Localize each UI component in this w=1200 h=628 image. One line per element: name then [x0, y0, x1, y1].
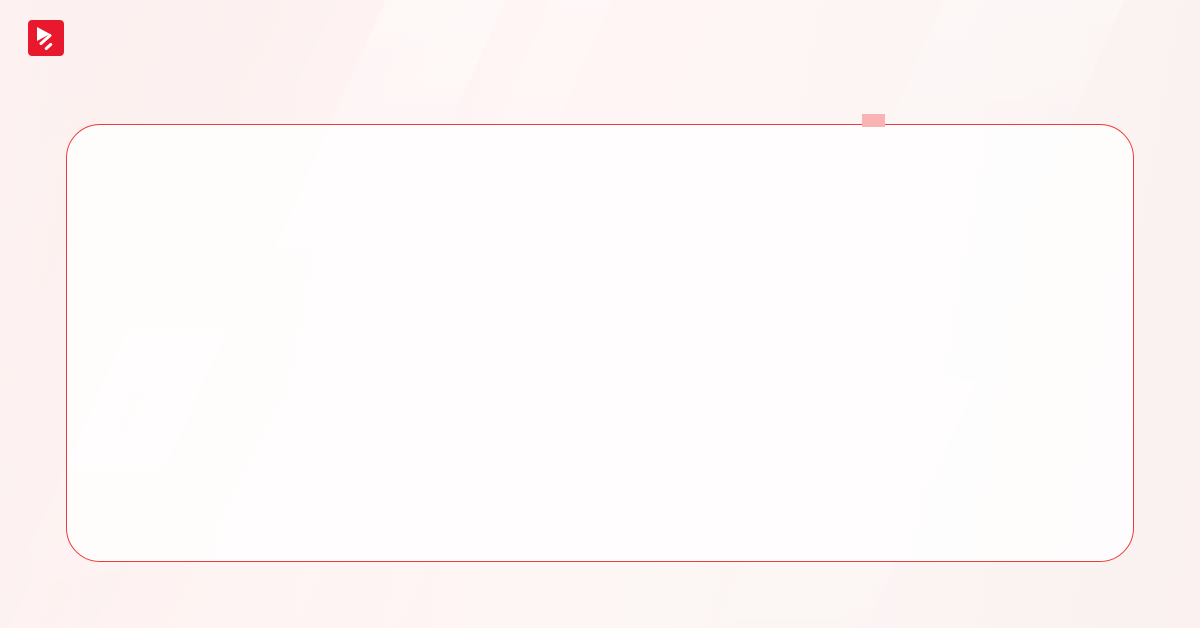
doo-prime-mark-icon	[28, 20, 64, 56]
infographic-canvas	[0, 0, 1200, 628]
decorative-dot-pattern	[28, 580, 248, 610]
brand-logo	[28, 20, 75, 56]
chart-card	[66, 124, 1134, 562]
chart-svg	[67, 125, 1135, 563]
chart-plot-area	[67, 125, 1135, 563]
decorative-pink-tab	[862, 114, 885, 127]
